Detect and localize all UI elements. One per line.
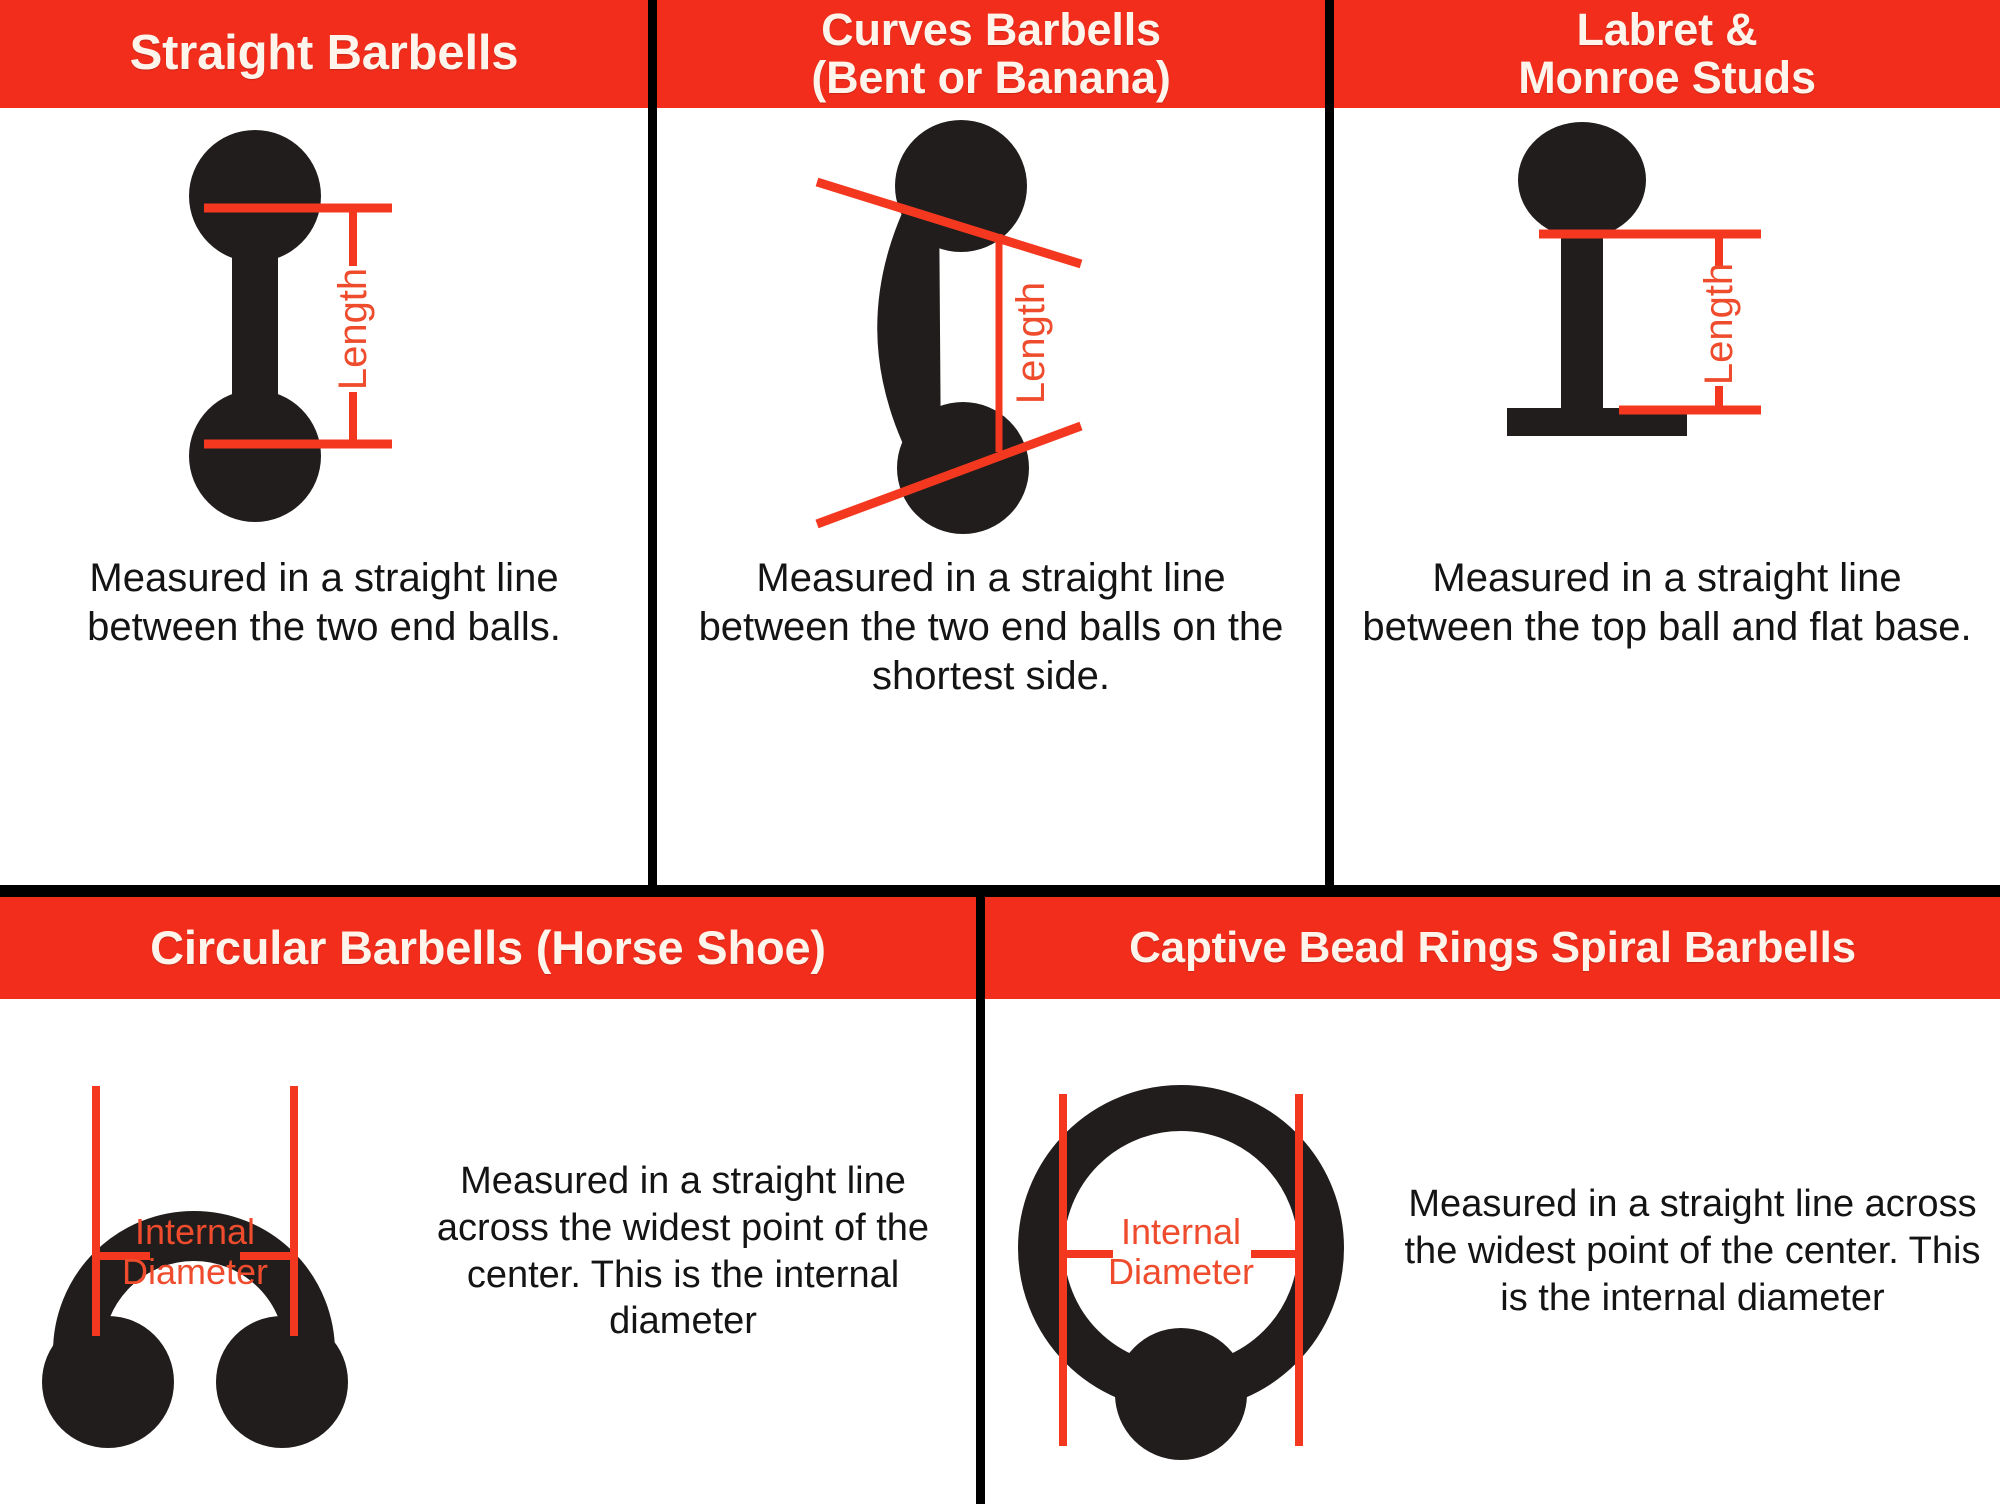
curved-top-ball-shape — [895, 120, 1027, 252]
panel-labret-title-line2: Monroe Studs — [1518, 54, 1816, 102]
labret-stud-figure: Length — [1334, 116, 2000, 536]
panel-circular-barbells: Circular Barbells (Horse Shoe) — [0, 897, 976, 1504]
vertical-divider-1 — [648, 0, 657, 885]
panel-straight-barbells: Straight Barbells — [0, 0, 648, 885]
panel-straight-barbells-header: Straight Barbells — [0, 0, 648, 108]
panel-captive-bead-rings-header: Captive Bead Rings Spiral Barbells — [985, 897, 2000, 999]
top-row: Straight Barbells — [0, 0, 2000, 885]
horseshoe-diameter-label-line2: Diameter — [122, 1251, 268, 1292]
straight-barbell-length-label: Length — [331, 268, 375, 390]
horseshoe-diagram: Internal Diameter — [0, 1052, 390, 1452]
barbell-top-ball-shape — [189, 130, 321, 262]
labret-post-shape — [1561, 232, 1603, 412]
panel-labret-monroe-studs: Labret & Monroe Studs — [1334, 0, 2000, 885]
horseshoe-left-ball-shape — [42, 1316, 174, 1448]
captive-bead-shape — [1115, 1328, 1247, 1460]
horseshoe-right-ball-shape — [216, 1316, 348, 1448]
labret-stud-diagram: Length — [1467, 116, 1867, 536]
labret-stud-length-label: Length — [1697, 263, 1741, 385]
captive-diameter-label-line1: Internal — [1121, 1211, 1241, 1252]
panel-straight-barbells-caption: Measured in a straight line between the … — [0, 554, 648, 652]
vertical-divider-3 — [976, 897, 985, 1504]
panel-curves-barbells-title-line1: Curves Barbells — [811, 6, 1170, 54]
panel-labret-monroe-studs-body: Length Measured in a straight line betwe… — [1334, 108, 2000, 885]
captive-bead-ring-diagram: Internal Diameter — [985, 1042, 1385, 1462]
curved-barbell-diagram: Length — [791, 116, 1191, 536]
straight-barbell-diagram: Length — [144, 116, 504, 536]
straight-barbell-figure: Length — [0, 116, 648, 536]
panel-labret-monroe-studs-header: Labret & Monroe Studs — [1334, 0, 2000, 108]
panel-straight-barbells-body: Length Measured in a straight line betwe… — [0, 108, 648, 885]
panel-labret-monroe-studs-caption: Measured in a straight line between the … — [1334, 554, 2000, 652]
infographic-sheet: Straight Barbells — [0, 0, 2000, 1504]
panel-curves-barbells-body: Length Measured in a straight line betwe… — [657, 108, 1325, 885]
horseshoe-figure: Internal Diameter — [0, 1052, 390, 1452]
labret-top-ball-shape — [1518, 122, 1646, 238]
barbell-bottom-ball-shape — [189, 390, 321, 522]
panel-circular-barbells-header: Circular Barbells (Horse Shoe) — [0, 897, 976, 999]
panel-circular-barbells-body: Internal Diameter Measured in a straight… — [0, 999, 976, 1504]
panel-captive-bead-rings-caption: Measured in a straight line across the w… — [1385, 1181, 2000, 1321]
panel-curves-barbells: Curves Barbells (Bent or Banana) — [657, 0, 1325, 885]
panel-curves-barbells-caption: Measured in a straight line between the … — [657, 554, 1325, 700]
panel-curves-barbells-header: Curves Barbells (Bent or Banana) — [657, 0, 1325, 108]
curved-barbell-figure: Length — [657, 116, 1325, 536]
captive-bead-ring-figure: Internal Diameter — [985, 1042, 1385, 1462]
panel-captive-bead-rings-body: Internal Diameter Measured in a straight… — [985, 999, 2000, 1504]
captive-diameter-label-line2: Diameter — [1108, 1251, 1254, 1292]
panel-circular-barbells-caption: Measured in a straight line across the w… — [390, 1158, 976, 1345]
horseshoe-diameter-label-line1: Internal — [135, 1211, 255, 1252]
vertical-divider-2 — [1325, 0, 1334, 885]
panel-labret-title-line1: Labret & — [1518, 6, 1816, 54]
horizontal-divider — [0, 885, 2000, 897]
panel-curves-barbells-title-line2: (Bent or Banana) — [811, 54, 1170, 102]
curved-barbell-length-label: Length — [1009, 282, 1053, 404]
bottom-row: Circular Barbells (Horse Shoe) — [0, 897, 2000, 1504]
panel-captive-bead-rings: Captive Bead Rings Spiral Barbells — [985, 897, 2000, 1504]
